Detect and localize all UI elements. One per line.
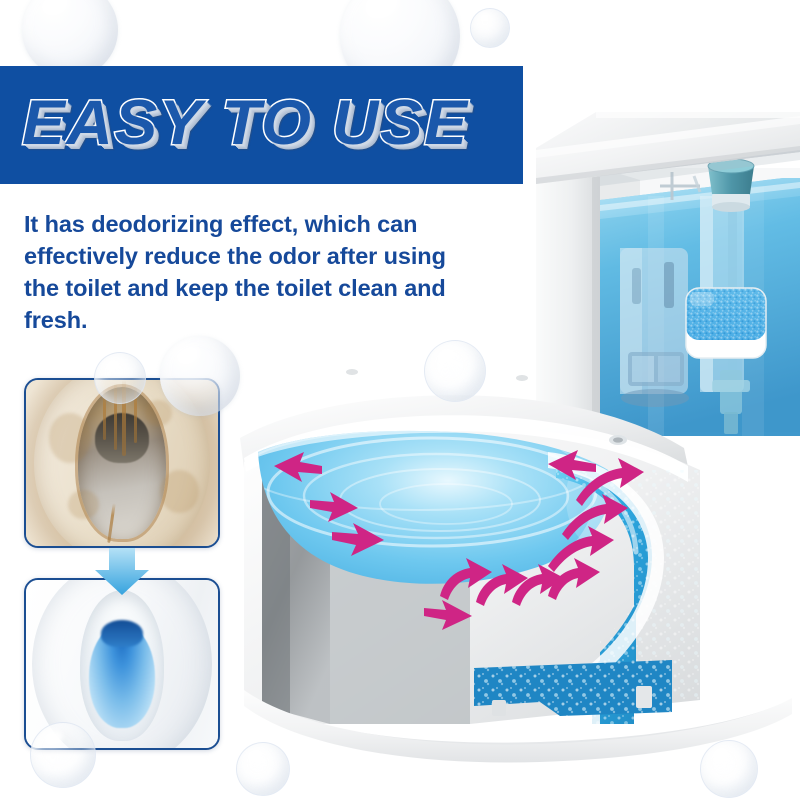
cleaner-block [686,288,766,358]
before-photo [24,378,220,548]
header-banner: EASY TO USE [0,66,523,184]
page-title: EASY TO USE [22,80,469,166]
rim-jet [609,435,627,445]
clean-bowl-artwork [26,580,218,748]
infographic-poster: EASY TO USE It has deodorizing effect, w… [0,0,800,800]
rim-holes [346,369,528,381]
after-photo [24,578,220,750]
description-text: It has deodorizing effect, which can eff… [24,208,482,336]
toilet-tank [536,112,800,436]
dirty-bowl-artwork [26,380,218,546]
flush-valve [620,248,689,407]
comparison-down-arrow-icon [93,548,151,596]
